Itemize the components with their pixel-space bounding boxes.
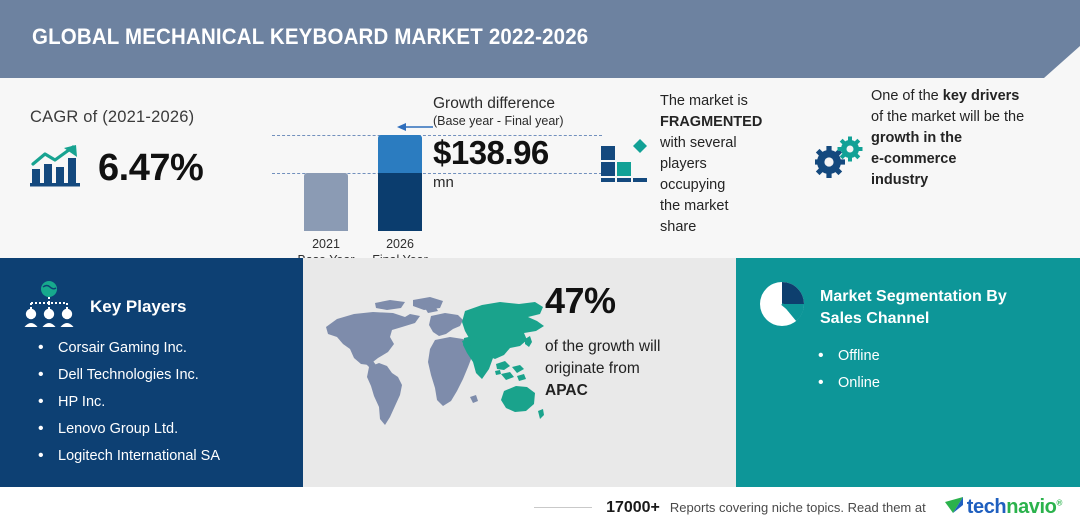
- apac-percent: 47%: [545, 280, 725, 322]
- fragmented-line1: The market is: [660, 93, 748, 109]
- drivers-line5: industry: [871, 172, 928, 188]
- page-title: GLOBAL MECHANICAL KEYBOARD MARKET 2022-2…: [32, 24, 588, 50]
- list-item: Lenovo Group Ltd.: [36, 421, 220, 437]
- drivers-line4: e-commerce: [871, 151, 956, 167]
- key-players-title: Key Players: [90, 297, 186, 317]
- pie-chart-icon: [758, 280, 806, 333]
- list-item: Online: [816, 375, 880, 391]
- list-item: Dell Technologies Inc.: [36, 367, 220, 383]
- segmentation-list: Offline Online: [816, 348, 880, 402]
- cagr-label: CAGR of (2021-2026): [30, 108, 280, 127]
- key-drivers-text: One of the key drivers of the market wil…: [871, 86, 1055, 191]
- list-item: HP Inc.: [36, 394, 220, 410]
- apac-stat-block: 47% of the growth will originate from AP…: [545, 280, 725, 402]
- drivers-line1-pre: One of the: [871, 88, 943, 104]
- people-network-icon: [22, 280, 76, 333]
- panels-row: Key Players Corsair Gaming Inc. Dell Tec…: [0, 258, 1080, 487]
- fragmented-text: The market is FRAGMENTED with several pl…: [660, 91, 762, 238]
- footer-text: Reports covering niche topics. Read them…: [670, 500, 926, 515]
- apac-line3: APAC: [545, 382, 588, 399]
- cagr-value: 6.47%: [98, 147, 203, 190]
- bar-2026: [378, 135, 422, 231]
- bar-chart-growth-icon: [30, 145, 82, 192]
- key-players-list: Corsair Gaming Inc. Dell Technologies In…: [36, 340, 220, 475]
- fragmented-block: The market is FRAGMENTED with several pl…: [600, 108, 760, 238]
- footer-bar: 17000+ Reports covering niche topics. Re…: [0, 487, 1080, 528]
- region-map-panel: 47% of the growth will originate from AP…: [303, 258, 736, 487]
- bar-2026-growth-segment: [378, 135, 422, 173]
- apac-line2: originate from: [545, 360, 640, 377]
- growth-difference-amount: $138.96: [433, 134, 608, 172]
- logo-part-navio: navio: [1006, 496, 1056, 518]
- reports-count: 17000+: [606, 499, 660, 517]
- top-stats-band: CAGR of (2021-2026) 6.47%: [0, 78, 1080, 256]
- apac-line1: of the growth will: [545, 338, 660, 355]
- drivers-line2: of the market will be the: [871, 109, 1024, 125]
- footer-divider: [534, 507, 592, 508]
- world-map-apac-highlight-icon: [317, 288, 549, 453]
- bar-2026-base-segment: [378, 173, 422, 231]
- fragmented-line5: the market share: [660, 198, 729, 235]
- infographic-root: GLOBAL MECHANICAL KEYBOARD MARKET 2022-2…: [0, 0, 1080, 528]
- logo-part-tech: tech: [967, 496, 1007, 518]
- bar-2026-year: 2026: [355, 236, 445, 252]
- header-banner: GLOBAL MECHANICAL KEYBOARD MARKET 2022-2…: [0, 0, 1080, 78]
- growth-difference-title: Growth difference: [433, 94, 608, 113]
- bar-2021: [304, 173, 348, 231]
- technavio-arrow-icon: [944, 496, 964, 519]
- segmentation-header: Market Segmentation By Sales Channel: [758, 280, 1007, 333]
- drivers-line3: growth in the: [871, 130, 962, 146]
- technavio-logo[interactable]: technavio®: [944, 496, 1062, 519]
- cagr-block: CAGR of (2021-2026) 6.47%: [30, 108, 280, 192]
- list-item: Offline: [816, 348, 880, 364]
- segmentation-title: Market Segmentation By Sales Channel: [820, 286, 1007, 330]
- segmentation-title-line2: Sales Channel: [820, 310, 929, 327]
- segmentation-title-line1: Market Segmentation By: [820, 288, 1007, 305]
- fragmented-line3: with several: [660, 135, 737, 151]
- list-item: Logitech International SA: [36, 448, 220, 464]
- gears-icon: [815, 136, 863, 191]
- key-players-header: Key Players: [22, 280, 186, 333]
- fragmented-line2: FRAGMENTED: [660, 114, 762, 130]
- key-drivers-block: One of the key drivers of the market wil…: [815, 108, 1055, 191]
- list-item: Corsair Gaming Inc.: [36, 340, 220, 356]
- drivers-line1-bold: key drivers: [943, 88, 1020, 104]
- logo-trademark: ®: [1057, 498, 1063, 507]
- technavio-wordmark: technavio®: [967, 496, 1062, 519]
- squares-mosaic-icon: [600, 136, 650, 238]
- growth-bar-chart: 2021 Base Year 2026 Final Year: [268, 88, 443, 238]
- growth-difference-unit: mn: [433, 174, 608, 191]
- apac-description: of the growth will originate from APAC: [545, 336, 725, 402]
- callout-arrow-icon: [397, 119, 433, 129]
- key-players-panel: Key Players Corsair Gaming Inc. Dell Tec…: [0, 258, 303, 487]
- growth-difference-subtitle: (Base year - Final year): [433, 114, 608, 128]
- growth-difference-callout: Growth difference (Base year - Final yea…: [433, 94, 608, 191]
- fragmented-line4: players occupying: [660, 156, 725, 193]
- market-segmentation-panel: Market Segmentation By Sales Channel Off…: [736, 258, 1080, 487]
